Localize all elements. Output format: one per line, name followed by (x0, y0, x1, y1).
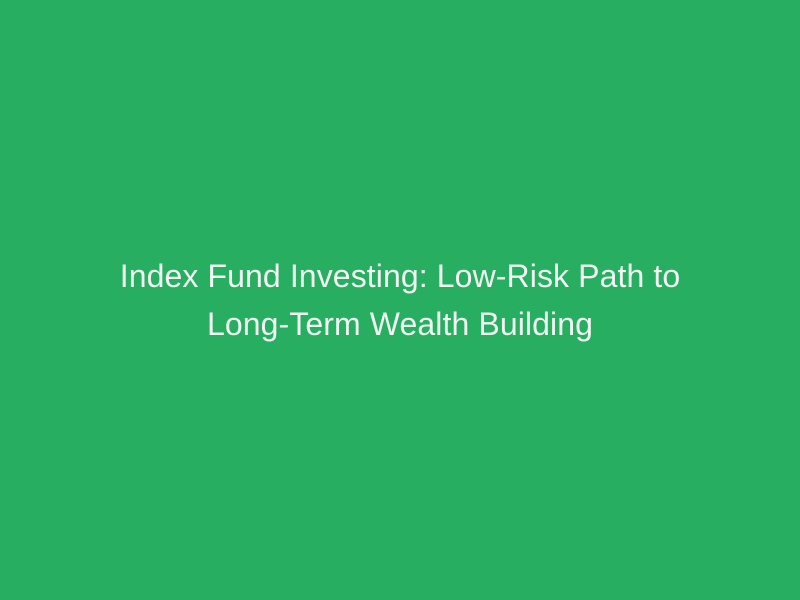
page-title: Index Fund Investing: Low-Risk Path to L… (100, 252, 700, 348)
article-cover-card: Index Fund Investing: Low-Risk Path to L… (0, 0, 800, 600)
